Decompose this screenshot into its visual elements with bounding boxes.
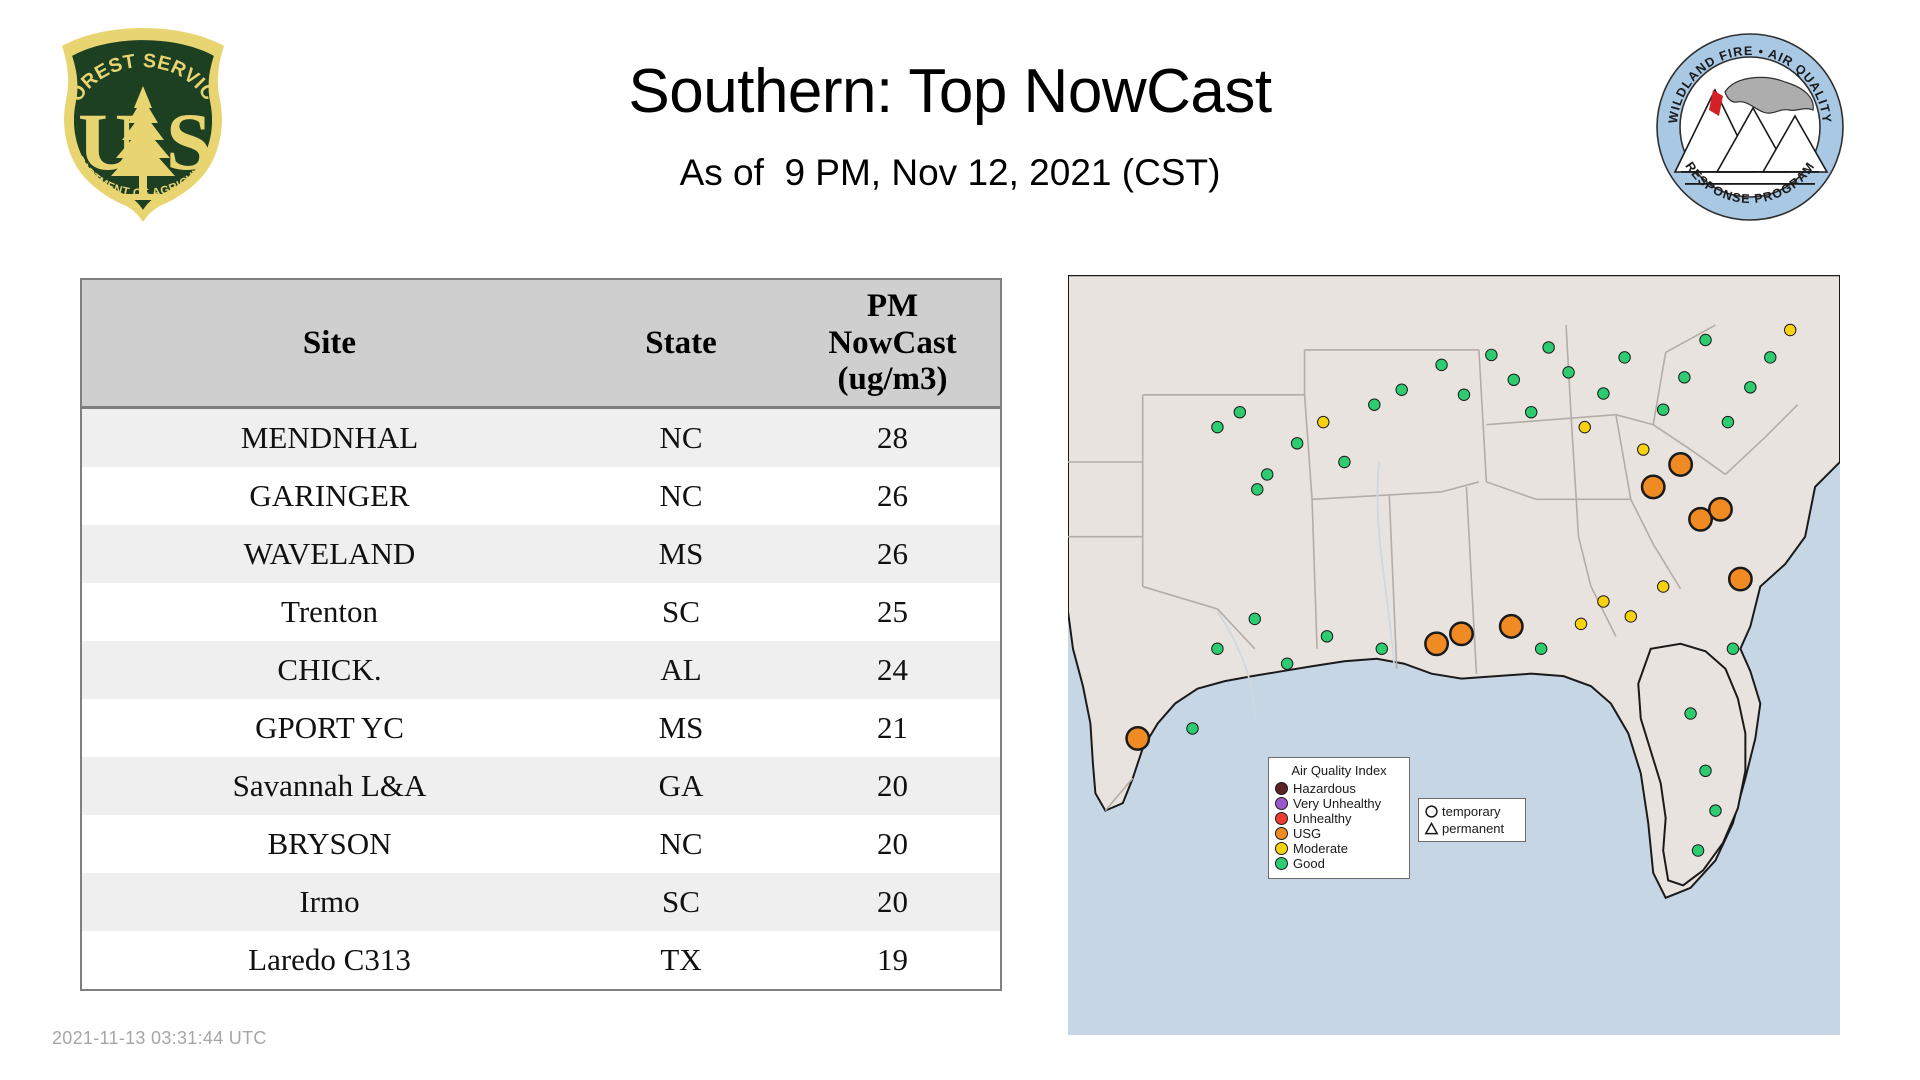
pm-header-line-3: (ug/m3) bbox=[791, 361, 994, 398]
pm-value-cell: 20 bbox=[785, 873, 1001, 931]
aqi-legend-item: Very Unhealthy bbox=[1275, 796, 1403, 811]
monitor-marker[interactable] bbox=[1700, 334, 1711, 345]
air-quality-map[interactable]: Air Quality Index HazardousVery Unhealth… bbox=[1068, 275, 1840, 1035]
monitor-marker[interactable] bbox=[1727, 643, 1738, 654]
monitor-marker[interactable] bbox=[1486, 349, 1497, 360]
aqi-color-swatch-icon bbox=[1275, 842, 1288, 855]
monitor-marker[interactable] bbox=[1187, 723, 1198, 734]
column-header-pm-nowcast: PM NowCast (ug/m3) bbox=[785, 279, 1001, 408]
aqi-legend-item-label: Unhealthy bbox=[1293, 811, 1352, 826]
monitor-legend-permanent: permanent bbox=[1424, 820, 1520, 837]
table-row: TrentonSC25 bbox=[81, 583, 1001, 641]
monitor-marker[interactable] bbox=[1729, 568, 1751, 590]
monitor-marker[interactable] bbox=[1657, 581, 1668, 592]
table-row: MENDNHALNC28 bbox=[81, 408, 1001, 468]
monitor-marker[interactable] bbox=[1212, 643, 1223, 654]
monitor-marker[interactable] bbox=[1598, 596, 1609, 607]
monitor-marker[interactable] bbox=[1127, 727, 1149, 749]
monitor-marker[interactable] bbox=[1291, 438, 1302, 449]
pm-value-cell: 20 bbox=[785, 757, 1001, 815]
monitor-legend-temporary: temporary bbox=[1424, 803, 1520, 820]
site-cell: Laredo C313 bbox=[81, 931, 577, 990]
monitor-marker[interactable] bbox=[1376, 643, 1387, 654]
aqi-legend-item: Moderate bbox=[1275, 841, 1403, 856]
site-cell: Savannah L&A bbox=[81, 757, 577, 815]
site-cell: Trenton bbox=[81, 583, 577, 641]
table-row: IrmoSC20 bbox=[81, 873, 1001, 931]
aqi-legend-item: Hazardous bbox=[1275, 781, 1403, 796]
page-title: Southern: Top NowCast bbox=[260, 56, 1640, 127]
usfs-shield-logo: FOREST SERVICE DEPARTMENT OF AGRICULTURE… bbox=[48, 24, 238, 224]
monitor-marker[interactable] bbox=[1339, 456, 1350, 467]
page-subtitle: As of 9 PM, Nov 12, 2021 (CST) bbox=[260, 152, 1640, 194]
pm-value-cell: 26 bbox=[785, 525, 1001, 583]
aqi-color-swatch-icon bbox=[1275, 812, 1288, 825]
table-row: GARINGERNC26 bbox=[81, 467, 1001, 525]
monitor-marker[interactable] bbox=[1508, 374, 1519, 385]
monitor-marker[interactable] bbox=[1500, 615, 1522, 637]
table-row: Savannah L&AGA20 bbox=[81, 757, 1001, 815]
monitor-marker[interactable] bbox=[1784, 324, 1795, 335]
monitor-marker[interactable] bbox=[1685, 708, 1696, 719]
pm-value-cell: 20 bbox=[785, 815, 1001, 873]
table-header-row: Site State PM NowCast (ug/m3) bbox=[81, 279, 1001, 408]
state-cell: SC bbox=[577, 583, 785, 641]
monitor-marker[interactable] bbox=[1261, 469, 1272, 480]
monitor-marker[interactable] bbox=[1722, 416, 1733, 427]
monitor-marker[interactable] bbox=[1458, 389, 1469, 400]
state-cell: SC bbox=[577, 873, 785, 931]
site-cell: MENDNHAL bbox=[81, 408, 577, 468]
monitor-marker[interactable] bbox=[1425, 633, 1447, 655]
site-cell: WAVELAND bbox=[81, 525, 577, 583]
table-row: WAVELANDMS26 bbox=[81, 525, 1001, 583]
monitor-legend-temporary-label: temporary bbox=[1442, 804, 1501, 819]
monitor-marker[interactable] bbox=[1765, 352, 1776, 363]
monitor-marker[interactable] bbox=[1575, 618, 1586, 629]
pm-value-cell: 26 bbox=[785, 467, 1001, 525]
pm-header-line-2: NowCast bbox=[791, 325, 994, 362]
monitor-marker[interactable] bbox=[1679, 372, 1690, 383]
monitor-marker[interactable] bbox=[1642, 476, 1664, 498]
monitor-marker[interactable] bbox=[1318, 416, 1329, 427]
state-cell: MS bbox=[577, 699, 785, 757]
monitor-marker[interactable] bbox=[1709, 498, 1731, 520]
state-cell: NC bbox=[577, 467, 785, 525]
monitor-marker[interactable] bbox=[1543, 342, 1554, 353]
monitor-marker[interactable] bbox=[1281, 658, 1292, 669]
table-row: BRYSONNC20 bbox=[81, 815, 1001, 873]
site-cell: Irmo bbox=[81, 873, 577, 931]
aqi-legend-item: Good bbox=[1275, 856, 1403, 871]
monitor-marker[interactable] bbox=[1638, 444, 1649, 455]
pm-value-cell: 19 bbox=[785, 931, 1001, 990]
monitor-marker[interactable] bbox=[1450, 623, 1472, 645]
monitor-marker[interactable] bbox=[1252, 484, 1263, 495]
aqi-color-swatch-icon bbox=[1275, 857, 1288, 870]
wfaqrp-logo: WILDLAND FIRE • AIR QUALITY RESPONSE PRO… bbox=[1655, 32, 1845, 222]
monitor-marker[interactable] bbox=[1535, 643, 1546, 654]
usfs-letter-s: S bbox=[166, 96, 212, 187]
aqi-color-swatch-icon bbox=[1275, 827, 1288, 840]
monitor-marker[interactable] bbox=[1625, 611, 1636, 622]
circle-icon bbox=[1424, 804, 1439, 819]
aqi-legend-item-label: USG bbox=[1293, 826, 1321, 841]
site-cell: GARINGER bbox=[81, 467, 577, 525]
state-cell: NC bbox=[577, 408, 785, 468]
column-header-site: Site bbox=[81, 279, 577, 408]
monitor-marker[interactable] bbox=[1321, 631, 1332, 642]
column-header-state: State bbox=[577, 279, 785, 408]
monitor-marker[interactable] bbox=[1619, 352, 1630, 363]
nowcast-table-container: Site State PM NowCast (ug/m3) MENDNHALNC… bbox=[80, 278, 1000, 991]
monitor-marker[interactable] bbox=[1369, 399, 1380, 410]
state-cell: TX bbox=[577, 931, 785, 990]
monitor-marker[interactable] bbox=[1657, 404, 1668, 415]
pm-value-cell: 25 bbox=[785, 583, 1001, 641]
pm-value-cell: 21 bbox=[785, 699, 1001, 757]
aqi-legend-item-label: Very Unhealthy bbox=[1293, 796, 1381, 811]
aqi-legend-title: Air Quality Index bbox=[1275, 763, 1403, 778]
monitor-legend-permanent-label: permanent bbox=[1442, 821, 1504, 836]
state-cell: AL bbox=[577, 641, 785, 699]
monitor-type-legend: temporary permanent bbox=[1418, 798, 1526, 842]
monitor-marker[interactable] bbox=[1212, 421, 1223, 432]
monitor-marker[interactable] bbox=[1745, 382, 1756, 393]
aqi-legend-item: USG bbox=[1275, 826, 1403, 841]
table-row: GPORT YCMS21 bbox=[81, 699, 1001, 757]
triangle-icon bbox=[1424, 821, 1439, 836]
aqi-legend-item: Unhealthy bbox=[1275, 811, 1403, 826]
aqi-legend-item-label: Moderate bbox=[1293, 841, 1348, 856]
monitor-marker[interactable] bbox=[1525, 406, 1536, 417]
nowcast-table: Site State PM NowCast (ug/m3) MENDNHALNC… bbox=[80, 278, 1002, 991]
aqi-legend-item-label: Good bbox=[1293, 856, 1325, 871]
monitor-marker[interactable] bbox=[1692, 845, 1703, 856]
site-cell: GPORT YC bbox=[81, 699, 577, 757]
aqi-color-swatch-icon bbox=[1275, 797, 1288, 810]
pm-header-line-1: PM bbox=[791, 288, 994, 325]
aqi-legend-item-label: Hazardous bbox=[1293, 781, 1356, 796]
state-cell: NC bbox=[577, 815, 785, 873]
monitor-marker[interactable] bbox=[1598, 388, 1609, 399]
monitor-marker[interactable] bbox=[1396, 384, 1407, 395]
table-row: Laredo C313TX19 bbox=[81, 931, 1001, 990]
monitor-marker[interactable] bbox=[1436, 359, 1447, 370]
monitor-marker[interactable] bbox=[1579, 421, 1590, 432]
table-header: Site State PM NowCast (ug/m3) bbox=[81, 279, 1001, 408]
pm-value-cell: 24 bbox=[785, 641, 1001, 699]
aqi-color-swatch-icon bbox=[1275, 782, 1288, 795]
site-cell: CHICK. bbox=[81, 641, 577, 699]
monitor-marker[interactable] bbox=[1669, 453, 1691, 475]
generated-timestamp: 2021-11-13 03:31:44 UTC bbox=[52, 1028, 267, 1049]
aqi-legend: Air Quality Index HazardousVery Unhealth… bbox=[1268, 757, 1410, 879]
site-cell: BRYSON bbox=[81, 815, 577, 873]
table-body: MENDNHALNC28GARINGERNC26WAVELANDMS26Tren… bbox=[81, 408, 1001, 991]
pm-value-cell: 28 bbox=[785, 408, 1001, 468]
monitor-marker[interactable] bbox=[1700, 765, 1711, 776]
state-cell: MS bbox=[577, 525, 785, 583]
monitor-marker[interactable] bbox=[1249, 613, 1260, 624]
state-cell: GA bbox=[577, 757, 785, 815]
monitor-marker[interactable] bbox=[1710, 805, 1721, 816]
table-row: CHICK.AL24 bbox=[81, 641, 1001, 699]
monitor-marker[interactable] bbox=[1563, 367, 1574, 378]
monitor-marker[interactable] bbox=[1234, 406, 1245, 417]
